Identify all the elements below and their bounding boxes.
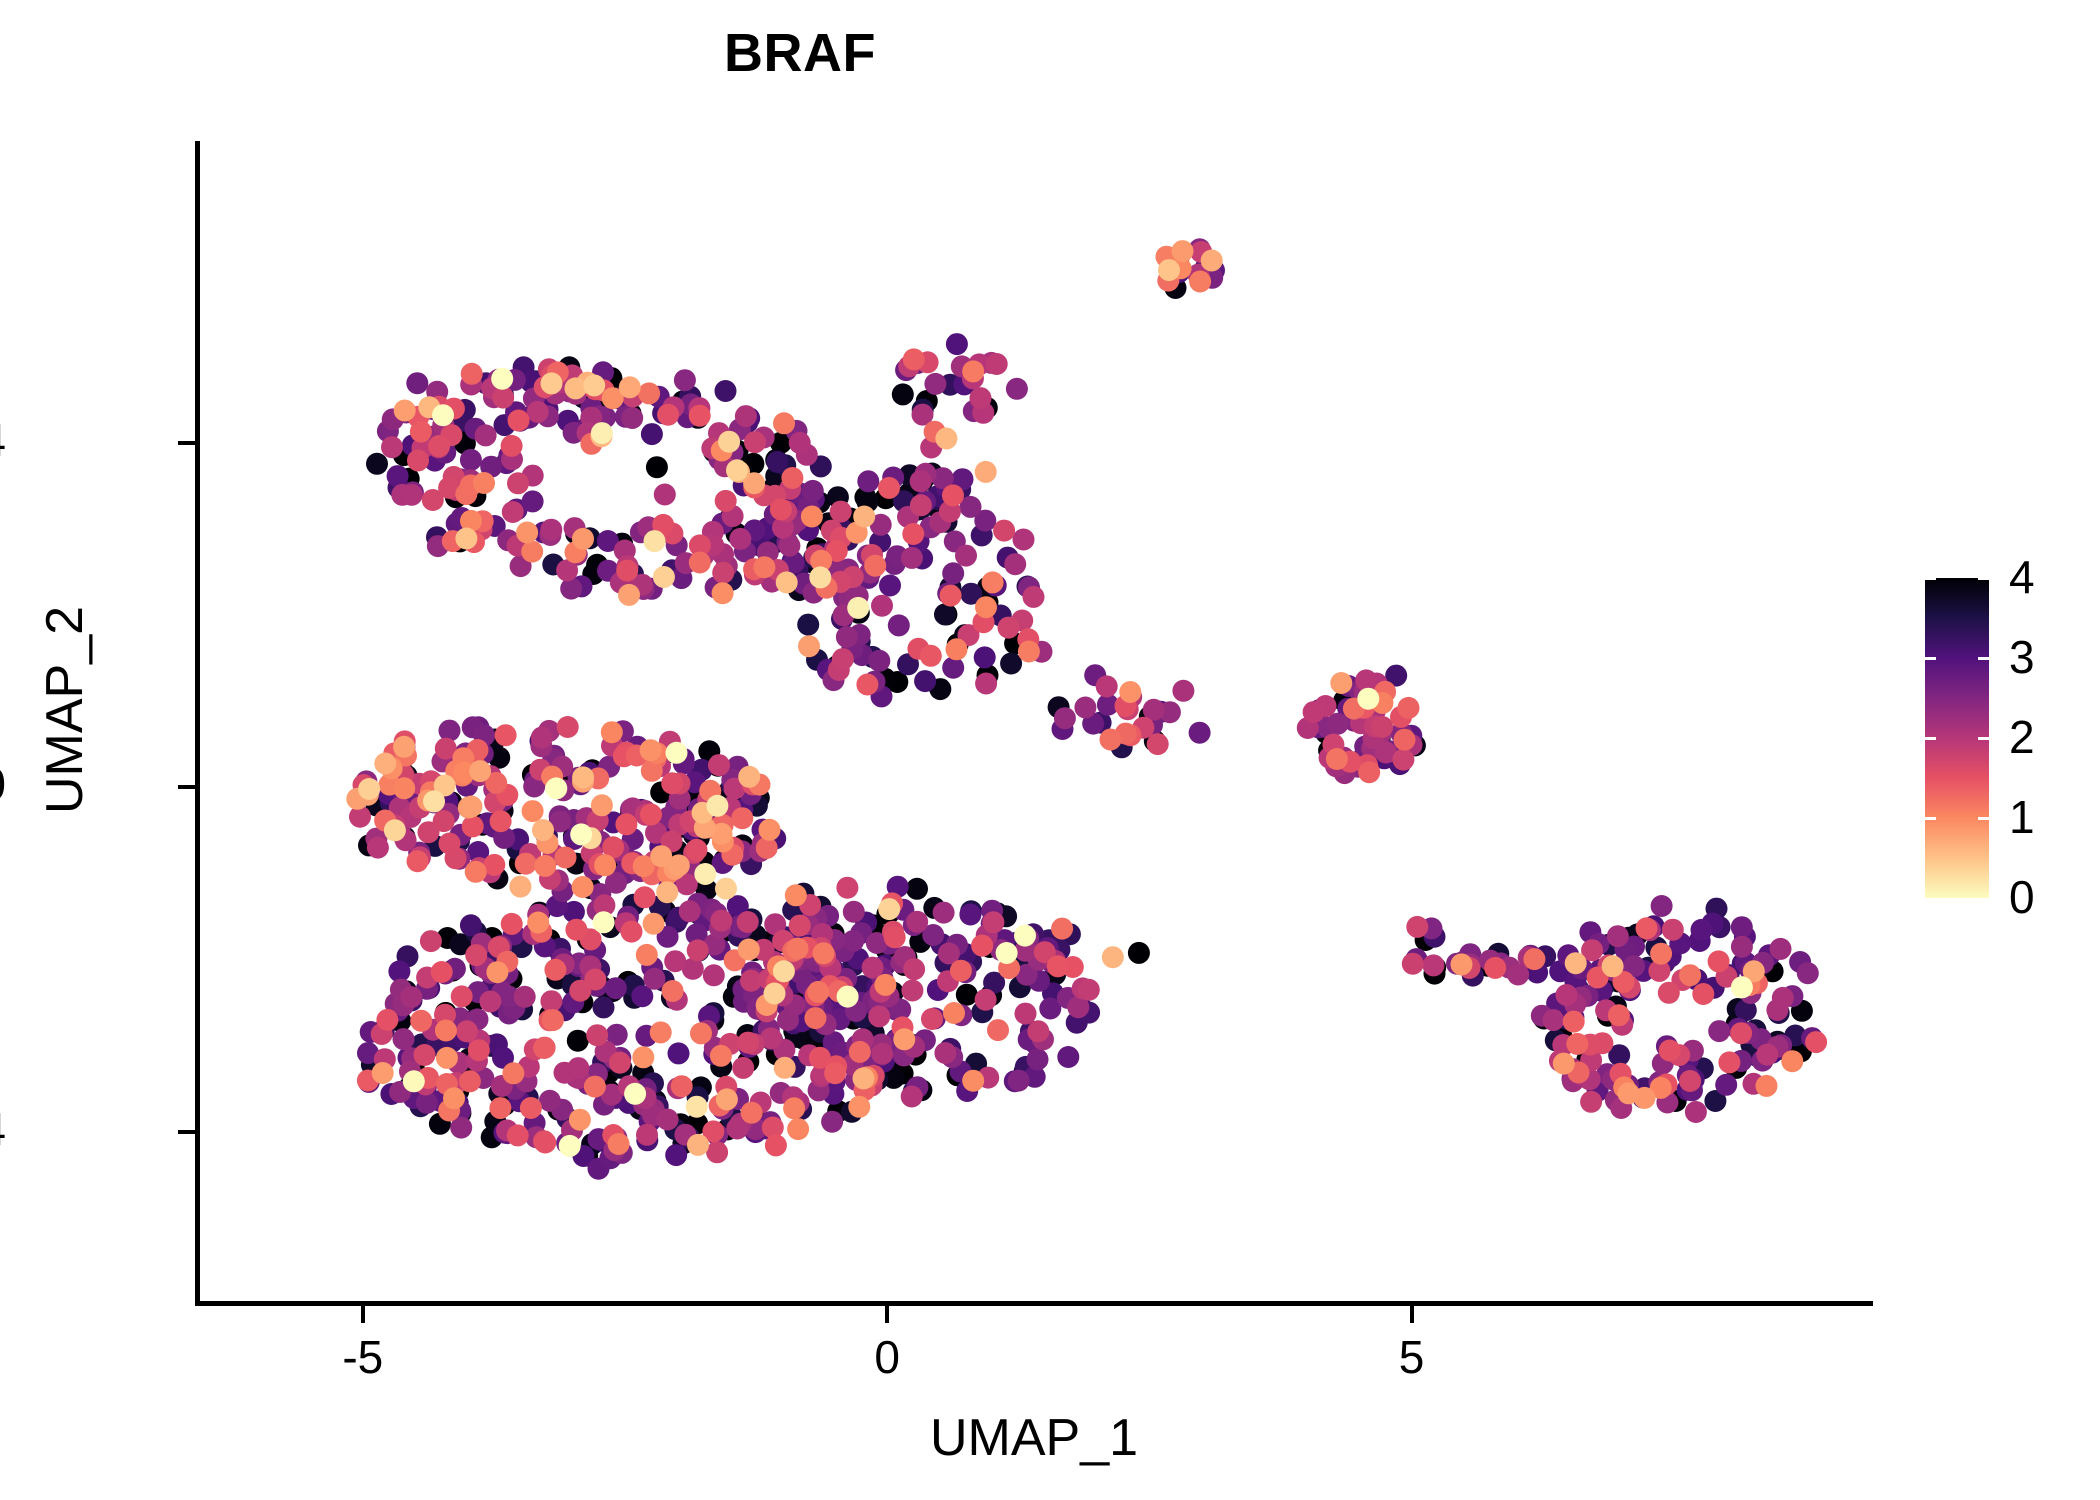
colorbar-tick-label: 0 xyxy=(2009,874,2035,920)
scatter-point xyxy=(1023,586,1045,608)
scatter-point xyxy=(1406,916,1428,938)
colorbar-tick-mark xyxy=(1978,577,1989,580)
scatter-point xyxy=(798,635,820,657)
scatter-point xyxy=(643,913,665,935)
scatter-point xyxy=(557,716,579,738)
scatter-point xyxy=(384,819,406,841)
scatter-point xyxy=(783,1097,805,1119)
scatter-point xyxy=(1662,919,1684,941)
scatter-point xyxy=(671,1075,693,1097)
scatter-point xyxy=(903,958,925,980)
scatter-point xyxy=(468,1039,490,1061)
scatter-point xyxy=(531,727,553,749)
scatter-point xyxy=(710,1045,732,1067)
scatter-point xyxy=(1172,680,1194,702)
scatter-point xyxy=(1566,1033,1588,1055)
y-axis-tick-label: 0 xyxy=(0,757,6,811)
scatter-point xyxy=(502,1062,524,1084)
scatter-point xyxy=(892,383,914,405)
scatter-point xyxy=(975,673,997,695)
scatter-point xyxy=(856,674,878,696)
scatter-point xyxy=(414,1044,436,1066)
scatter-point xyxy=(1201,250,1223,272)
colorbar-tick-label: 1 xyxy=(2009,794,2035,840)
scatter-point xyxy=(1636,917,1658,939)
scatter-point xyxy=(706,795,728,817)
scatter-point xyxy=(712,582,734,604)
scatter-point xyxy=(933,902,955,924)
scatter-point xyxy=(1805,1031,1827,1053)
scatter-point xyxy=(731,807,753,829)
scatter-point xyxy=(982,571,1004,593)
scatter-point xyxy=(594,854,616,876)
colorbar-tick-label: 4 xyxy=(2009,554,2035,600)
scatter-point xyxy=(715,878,737,900)
scatter-point xyxy=(864,555,886,577)
scatter-point xyxy=(393,736,415,758)
page-title: BRAF xyxy=(0,22,1600,84)
colorbar-tick-mark xyxy=(1925,737,1936,740)
scatter-point xyxy=(1731,916,1753,938)
scatter-point xyxy=(459,1070,481,1092)
scatter-point xyxy=(366,453,388,475)
scatter-point xyxy=(1563,1011,1585,1033)
scatter-point xyxy=(687,1134,709,1156)
scatter-point xyxy=(708,754,730,776)
scatter-point xyxy=(848,1096,870,1118)
scatter-point xyxy=(759,819,781,841)
scatter-point xyxy=(787,938,809,960)
scatter-point xyxy=(1556,984,1578,1006)
scatter-point xyxy=(465,861,487,883)
scatter-point xyxy=(656,881,678,903)
scatter-point xyxy=(847,597,869,619)
scatter-point xyxy=(420,930,442,952)
scatter-point xyxy=(998,617,1020,639)
scatter-point xyxy=(560,578,582,600)
scatter-point xyxy=(439,833,461,855)
scatter-point xyxy=(857,470,879,492)
scatter-point xyxy=(871,595,893,617)
scatter-point xyxy=(737,911,759,933)
scatter-point xyxy=(661,772,683,794)
scatter-point xyxy=(878,898,900,920)
scatter-point xyxy=(716,1088,738,1110)
scatter-point xyxy=(1423,954,1445,976)
scatter-point xyxy=(593,911,615,933)
scatter-point xyxy=(436,1047,458,1069)
scatter-point xyxy=(565,919,587,941)
scatter-point xyxy=(479,991,501,1013)
scatter-point xyxy=(394,400,416,422)
scatter-point xyxy=(1402,953,1424,975)
scatter-point xyxy=(1781,1050,1803,1072)
scatter-point xyxy=(665,1144,687,1166)
x-axis-tick xyxy=(885,1306,889,1323)
scatter-point xyxy=(950,960,972,982)
scatter-point xyxy=(774,1057,796,1079)
colorbar-tick-label: 3 xyxy=(2009,634,2035,680)
scatter-point xyxy=(741,1102,763,1124)
scatter-point xyxy=(653,566,675,588)
scatter-point xyxy=(462,815,484,837)
scatter-point xyxy=(729,528,751,550)
scatter-point xyxy=(1102,946,1124,968)
scatter-point xyxy=(387,465,409,487)
scatter-point xyxy=(1119,681,1141,703)
scatter-point xyxy=(624,1083,646,1105)
scatter-point xyxy=(584,1076,606,1098)
scatter-point xyxy=(372,1062,394,1084)
scatter-point xyxy=(776,571,798,593)
x-axis-tick xyxy=(1410,1306,1414,1323)
colorbar-tick-mark xyxy=(1978,737,1989,740)
y-axis-tick xyxy=(178,1130,195,1134)
scatter-point xyxy=(1394,729,1416,751)
scatter-point xyxy=(591,422,613,444)
scatter-point xyxy=(641,423,663,445)
scatter-point xyxy=(853,1067,875,1089)
scatter-point xyxy=(706,1141,728,1163)
scatter-point xyxy=(1004,553,1026,575)
scatter-point xyxy=(461,363,483,385)
scatter-point xyxy=(809,566,831,588)
x-axis-line xyxy=(195,1301,1873,1306)
scatter-point xyxy=(621,407,643,429)
scatter-point xyxy=(540,990,562,1012)
scatter-point xyxy=(893,1028,915,1050)
scatter-point xyxy=(593,996,615,1018)
scatter-point xyxy=(878,477,900,499)
y-axis-tick-label: -4 xyxy=(0,1102,6,1156)
x-axis-tick xyxy=(361,1306,365,1323)
scatter-point xyxy=(765,1134,787,1156)
scatter-point xyxy=(879,575,901,597)
scatter-point xyxy=(542,1009,564,1031)
scatter-point xyxy=(586,1024,608,1046)
scatter-point xyxy=(737,1032,759,1054)
scatter-point xyxy=(1580,1091,1602,1113)
scatter-point xyxy=(1172,240,1194,262)
scatter-point xyxy=(1358,761,1380,783)
scatter-point xyxy=(554,1062,576,1084)
scatter-point xyxy=(764,983,786,1005)
scatter-point xyxy=(853,506,875,528)
scatter-point xyxy=(888,614,910,636)
scatter-point xyxy=(501,913,523,935)
scatter-point xyxy=(1027,1048,1049,1070)
scatter-point xyxy=(527,912,549,934)
scatter-point xyxy=(657,404,679,426)
scatter-point xyxy=(1100,729,1122,751)
scatter-point xyxy=(650,845,672,867)
scatter-point xyxy=(393,1028,415,1050)
scatter-point xyxy=(644,530,666,552)
scatter-point xyxy=(555,847,577,869)
scatter-point xyxy=(616,560,638,582)
scatter-point xyxy=(1008,1070,1030,1092)
scatter-point xyxy=(770,498,792,520)
scatter-point xyxy=(455,528,477,550)
scatter-point xyxy=(832,648,854,670)
figure-root: BRAF 40-4 -505 UMAP_1 UMAP_2 43210 xyxy=(0,0,2100,1500)
scatter-point xyxy=(1658,982,1680,1004)
y-axis-label: UMAP_2 xyxy=(35,400,95,1020)
scatter-point xyxy=(1772,987,1794,1009)
scatter-point xyxy=(435,1020,457,1042)
scatter-point xyxy=(1006,378,1028,400)
scatter-point xyxy=(657,1109,679,1131)
scatter-point xyxy=(428,435,450,457)
scatter-point xyxy=(1158,259,1180,281)
scatter-point xyxy=(920,645,942,667)
scatter-point xyxy=(541,372,563,394)
scatter-point xyxy=(1756,1044,1778,1066)
scatter-point xyxy=(959,904,981,926)
scatter-point xyxy=(1451,953,1473,975)
scatter-point xyxy=(1057,1046,1079,1068)
scatter-point xyxy=(400,986,422,1008)
scatter-point xyxy=(410,421,432,443)
scatter-point xyxy=(1189,271,1211,293)
scatter-point xyxy=(1691,919,1713,941)
scatter-point xyxy=(690,1022,712,1044)
scatter-point xyxy=(1078,979,1100,1001)
scatter-point xyxy=(534,855,556,877)
scatter-point xyxy=(1357,688,1379,710)
scatter-point xyxy=(718,431,740,453)
y-axis-line xyxy=(195,141,200,1306)
scatter-point xyxy=(802,480,824,502)
scatter-point xyxy=(358,778,380,800)
scatter-point xyxy=(495,724,517,746)
scatter-point xyxy=(1607,925,1629,947)
scatter-point xyxy=(744,431,766,453)
scatter-point xyxy=(508,410,530,432)
scatter-point xyxy=(781,467,803,489)
scatter-point xyxy=(1685,1101,1707,1123)
scatter-point xyxy=(901,547,923,569)
scatter-point xyxy=(946,638,968,660)
x-axis-tick-label: -5 xyxy=(303,1330,423,1384)
scatter-point xyxy=(906,878,928,900)
scatter-point xyxy=(946,333,968,355)
scatter-point xyxy=(1553,1053,1575,1075)
scatter-point xyxy=(522,490,544,512)
scatter-point xyxy=(1327,713,1349,735)
scatter-point xyxy=(836,877,858,899)
scatter-point xyxy=(591,794,613,816)
scatter-point xyxy=(710,910,732,932)
scatter-point xyxy=(638,382,660,404)
scatter-point xyxy=(662,980,684,1002)
scatter-point xyxy=(1147,733,1169,755)
scatter-point xyxy=(381,436,403,458)
scatter-point xyxy=(559,1135,581,1157)
scatter-point xyxy=(1523,948,1545,970)
scatter-point xyxy=(406,372,428,394)
colorbar-legend: 43210 xyxy=(1925,578,2075,918)
y-axis-tick-label: 4 xyxy=(0,413,6,467)
scatter-point xyxy=(910,470,932,492)
scatter-point xyxy=(632,1046,654,1068)
scatter-point xyxy=(565,377,587,399)
scatter-point xyxy=(849,1041,871,1063)
scatter-point xyxy=(465,944,487,966)
scatter-point xyxy=(1096,675,1118,697)
scatter-point xyxy=(621,921,643,943)
scatter-point xyxy=(942,657,964,679)
scatter-point xyxy=(1608,1004,1630,1026)
scatter-point xyxy=(433,810,455,832)
y-axis-tick xyxy=(178,441,195,445)
scatter-point xyxy=(401,484,423,506)
scatter-point xyxy=(1731,976,1753,998)
scatter-point xyxy=(501,435,523,457)
scatter-point xyxy=(451,985,473,1007)
scatter-point xyxy=(1679,1070,1701,1092)
scatter-point xyxy=(712,562,734,584)
scatter-point xyxy=(1303,701,1325,723)
scatter-point xyxy=(376,1009,398,1031)
scatter-point xyxy=(773,960,795,982)
scatter-point xyxy=(460,796,482,818)
scatter-point xyxy=(686,839,708,861)
scatter-point xyxy=(993,520,1015,542)
x-axis-tick-label: 5 xyxy=(1352,1330,1472,1384)
scatter-point xyxy=(584,969,606,991)
scatter-point xyxy=(687,939,709,961)
scatter-point xyxy=(686,1096,708,1118)
scatter-point xyxy=(874,974,896,996)
scatter-point xyxy=(393,777,415,799)
scatter-point xyxy=(934,1042,956,1064)
x-axis-label: UMAP_1 xyxy=(195,1408,1873,1468)
scatter-point xyxy=(726,459,748,481)
scatter-point xyxy=(489,1097,511,1119)
scatter-point xyxy=(970,387,992,409)
scatter-point xyxy=(423,790,445,812)
scatter-point xyxy=(1708,950,1730,972)
scatter-point xyxy=(1618,1082,1640,1104)
scatter-point xyxy=(1650,943,1672,965)
scatter-point xyxy=(674,369,696,391)
scatter-point xyxy=(666,742,688,764)
scatter-point xyxy=(1731,936,1753,958)
scatter-point xyxy=(1330,672,1352,694)
scatter-point xyxy=(753,556,775,578)
scatter-point xyxy=(906,911,928,933)
scatter-point xyxy=(515,853,537,875)
scatter-point xyxy=(569,1109,591,1131)
scatter-point xyxy=(902,523,924,545)
scatter-point xyxy=(789,432,811,454)
scatter-point xyxy=(715,490,737,512)
scatter-point xyxy=(975,461,997,483)
scatter-point xyxy=(1392,749,1414,771)
scatter-point xyxy=(975,989,997,1011)
scatter-point xyxy=(410,1010,432,1032)
scatter-point xyxy=(367,837,389,859)
scatter-point xyxy=(572,876,594,898)
scatter-point xyxy=(443,1087,465,1109)
scatter-point xyxy=(615,813,637,835)
scatter-point xyxy=(974,646,996,668)
scatter-point xyxy=(901,1086,923,1108)
scatter-point xyxy=(431,961,453,983)
scatter-point xyxy=(732,1057,754,1079)
scatter-point xyxy=(1797,962,1819,984)
scatter-point xyxy=(789,915,811,937)
scatter-point xyxy=(1189,722,1211,744)
scatter-point xyxy=(475,424,497,446)
colorbar-tick-label: 2 xyxy=(2009,714,2035,760)
scatter-point xyxy=(934,603,956,625)
scatter-point xyxy=(843,901,865,923)
scatter-point xyxy=(996,942,1018,964)
scatter-point xyxy=(534,1132,556,1154)
scatter-point xyxy=(492,387,514,409)
scatter-point xyxy=(942,484,964,506)
scatter-point xyxy=(1013,529,1035,551)
scatter-point xyxy=(583,374,605,396)
scatter-point xyxy=(738,766,760,788)
scatter-point xyxy=(884,926,906,948)
colorbar-tick-mark xyxy=(1925,577,1936,580)
scatter-point xyxy=(955,545,977,567)
scatter-point xyxy=(940,585,962,607)
scatter-point xyxy=(1054,707,1076,729)
scatter-point xyxy=(1326,748,1348,770)
scatter-point xyxy=(830,501,852,523)
scatter-point xyxy=(668,1042,690,1064)
scatter-point xyxy=(1602,955,1624,977)
scatter-point xyxy=(689,552,711,574)
scatter-point xyxy=(903,348,925,370)
scatter-point xyxy=(921,1008,943,1030)
scatter-point xyxy=(1730,1022,1752,1044)
scatter-point xyxy=(544,959,566,981)
scatter-point xyxy=(868,1005,890,1027)
scatter-point xyxy=(1371,716,1393,738)
scatter-point xyxy=(502,501,524,523)
scatter-point xyxy=(801,506,823,528)
scatter-point xyxy=(1770,938,1792,960)
scatter-point xyxy=(773,412,795,434)
scatter-point xyxy=(787,1118,809,1140)
scatter-point xyxy=(986,353,1008,375)
scatter-point xyxy=(643,968,665,990)
scatter-point xyxy=(540,519,562,541)
scatter-point xyxy=(1692,983,1714,1005)
x-axis-tick-label: 0 xyxy=(827,1330,947,1384)
scatter-point xyxy=(608,1133,630,1155)
scatter-point xyxy=(1051,918,1073,940)
scatter-point xyxy=(490,810,512,832)
scatter-point xyxy=(987,1019,1009,1041)
scatter-point xyxy=(609,1052,631,1074)
scatter-point xyxy=(646,456,668,478)
scatter-point xyxy=(1756,1075,1778,1097)
scatter-point xyxy=(797,614,819,636)
scatter-point xyxy=(1484,957,1506,979)
scatter-point xyxy=(971,935,993,957)
scatter-point xyxy=(507,472,529,494)
scatter-point xyxy=(1128,942,1150,964)
colorbar-tick-mark xyxy=(1925,657,1936,660)
scatter-point xyxy=(1715,1074,1737,1096)
y-axis-tick xyxy=(178,785,195,789)
